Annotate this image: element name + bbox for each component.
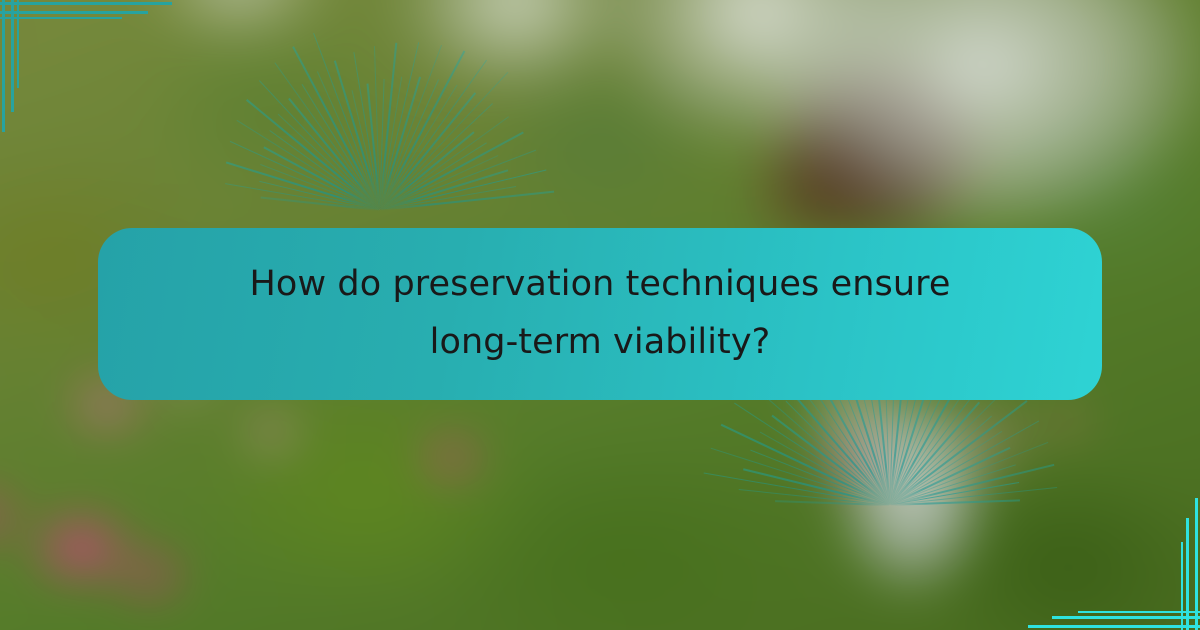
social-card-canvas: How do preservation techniques ensure lo…	[0, 0, 1200, 630]
question-card: How do preservation techniques ensure lo…	[98, 228, 1102, 400]
question-text: How do preservation techniques ensure lo…	[250, 256, 951, 372]
